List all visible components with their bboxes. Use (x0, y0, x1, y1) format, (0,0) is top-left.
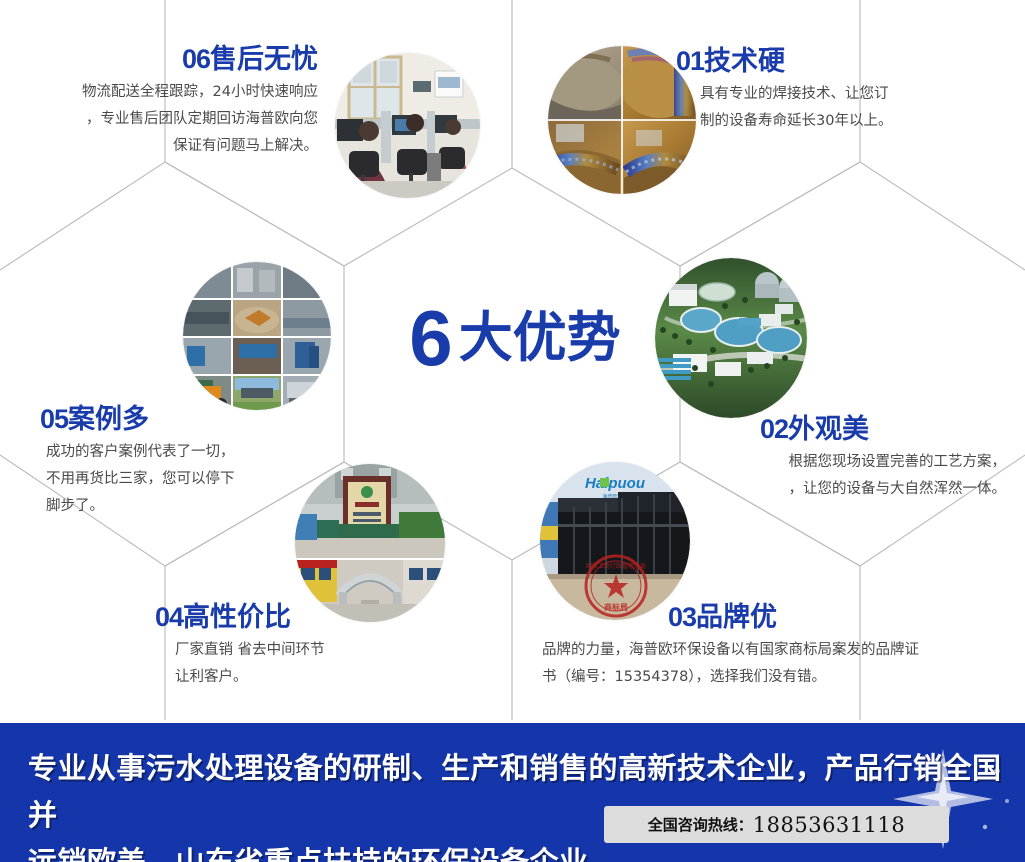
feature-04-number: 04 (155, 602, 183, 632)
feature-05-title-text: 案例多 (68, 404, 149, 435)
feature-03: 03品牌优 品牌的力量，海普欧环保设备以有国家商标局案发的品牌证 书（编号：15… (542, 602, 1020, 691)
feature-04-desc-line-1: 厂家直销 省去中间环节 (175, 637, 475, 664)
feature-06: 06售后无忧 物流配送全程跟踪，24小时快速响应 ，专业售后团队定期回访海普欧向… (8, 44, 318, 159)
feature-05-desc-line-1: 成功的客户案例代表了一切， (46, 439, 340, 466)
feature-04: 04高性价比 厂家直销 省去中间环节 让利客户。 (155, 602, 475, 691)
hotline-label: 全国咨询热线： (648, 814, 753, 835)
feature-01: 01技术硬 具有专业的焊接技术、让您订 制的设备寿命延长30年以上。 (676, 46, 1006, 135)
feature-01-desc-line-2: 制的设备寿命延长30年以上。 (700, 108, 1006, 135)
feature-05-title: 05案例多 (40, 404, 340, 435)
feature-01-title: 01技术硬 (676, 46, 1006, 77)
feature-04-desc-line-2: 让利客户。 (175, 664, 475, 691)
feature-06-desc: 物流配送全程跟踪，24小时快速响应 ，专业售后团队定期回访海普欧向您 保证有问题… (8, 79, 318, 159)
feature-03-title-text: 品牌优 (696, 602, 777, 633)
feature-04-desc: 厂家直销 省去中间环节 让利客户。 (155, 637, 475, 691)
office-team-photo (335, 53, 480, 198)
feature-02-title-text: 外观美 (788, 414, 869, 445)
svg-text:Haipuou: Haipuou (585, 475, 645, 492)
feature-02-title: 02外观美 (680, 414, 1006, 445)
feature-05-desc-line-2: 不用再货比三家，您可以停下 (46, 466, 340, 493)
feature-01-number: 01 (676, 46, 704, 76)
feature-02-desc: 根据您现场设置完善的工艺方案， ，让您的设备与大自然浑然一体。 (680, 449, 1006, 503)
feature-02-desc-line-2: ，让您的设备与大自然浑然一体。 (680, 476, 1006, 503)
svg-text:国家工商行政管理总局: 国家工商行政管理总局 (586, 562, 646, 570)
case-grid-photo (183, 262, 331, 410)
feature-02-desc-line-1: 根据您现场设置完善的工艺方案， (680, 449, 1006, 476)
feature-01-desc: 具有专业的焊接技术、让您订 制的设备寿命延长30年以上。 (676, 81, 1006, 135)
feature-04-title-text: 高性价比 (183, 602, 291, 633)
equipment-trademark-photo: Haipuou 海普欧环保 (540, 462, 690, 620)
feature-03-desc: 品牌的力量，海普欧环保设备以有国家商标局案发的品牌证 书（编号：15354378… (542, 637, 1020, 691)
feature-05-number: 05 (40, 404, 68, 434)
welding-pipes-photo (548, 46, 696, 194)
feature-06-desc-line-2: ，专业售后团队定期回访海普欧向您 (8, 106, 318, 133)
feature-01-title-text: 技术硬 (704, 46, 785, 77)
feature-03-number: 03 (668, 602, 696, 632)
feature-04-title: 04高性价比 (155, 602, 475, 633)
feature-05-desc: 成功的客户案例代表了一切， 不用再货比三家，您可以停下 脚步了。 (40, 439, 340, 519)
center-label-text: 大优势 (459, 311, 621, 365)
feature-02-number: 02 (760, 414, 788, 444)
feature-03-desc-line-1: 品牌的力量，海普欧环保设备以有国家商标局案发的品牌证 (542, 637, 1020, 664)
feature-06-number: 06 (182, 44, 210, 74)
feature-06-desc-line-1: 物流配送全程跟踪，24小时快速响应 (8, 79, 318, 106)
feature-05: 05案例多 成功的客户案例代表了一切， 不用再货比三家，您可以停下 脚步了。 (40, 404, 340, 519)
treatment-plant-aerial-photo (655, 258, 807, 418)
feature-06-desc-line-3: 保证有问题马上解决。 (8, 133, 318, 160)
feature-06-title: 06售后无忧 (8, 44, 318, 75)
feature-03-desc-line-2: 书（编号：15354378），选择我们没有错。 (542, 664, 1020, 691)
hotline-box[interactable]: 全国咨询热线： 18853631118 (604, 806, 949, 843)
feature-06-title-text: 售后无忧 (210, 44, 318, 75)
center-number: 6 (409, 299, 450, 377)
banner-text: 专业从事污水处理设备的研制、生产和销售的高新技术企业，产品行销全国并 远销欧美，… (28, 745, 1008, 862)
feature-05-desc-line-3: 脚步了。 (46, 493, 340, 520)
center-headline: 6 大优势 (370, 288, 660, 388)
feature-01-desc-line-1: 具有专业的焊接技术、让您订 (700, 81, 1006, 108)
feature-02: 02外观美 根据您现场设置完善的工艺方案， ，让您的设备与大自然浑然一体。 (680, 414, 1006, 503)
hotline-number: 18853631118 (753, 813, 905, 837)
promo-graphic: 6 大优势 (0, 0, 1025, 862)
feature-03-title: 03品牌优 (542, 602, 1020, 633)
